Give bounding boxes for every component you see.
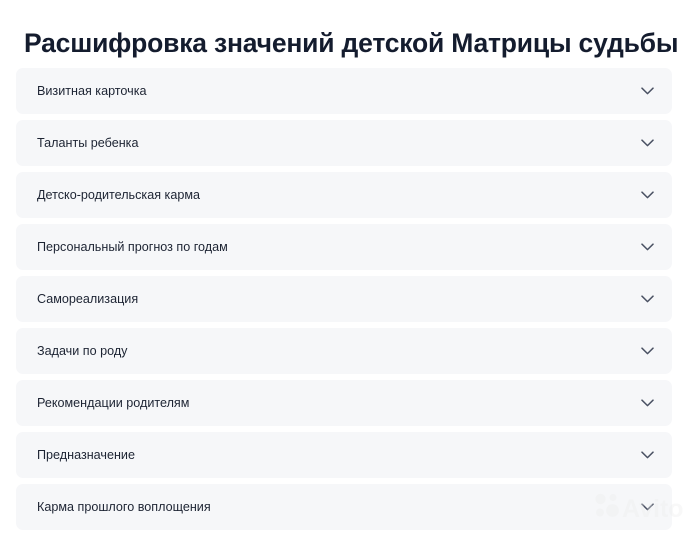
accordion-item[interactable]: Детско-родительская карма bbox=[16, 172, 672, 218]
chevron-down-icon[interactable] bbox=[638, 484, 656, 530]
chevron-down-icon[interactable] bbox=[638, 68, 656, 114]
chevron-down-icon[interactable] bbox=[638, 172, 656, 218]
page-root: Расшифровка значений детской Матрицы суд… bbox=[0, 0, 697, 540]
accordion-item-label: Персональный прогноз по годам bbox=[37, 224, 228, 270]
accordion-item-label: Задачи по роду bbox=[37, 328, 127, 374]
chevron-down-icon[interactable] bbox=[638, 224, 656, 270]
accordion-item[interactable]: Таланты ребенка bbox=[16, 120, 672, 166]
accordion-list: Визитная карточкаТаланты ребенкаДетско-р… bbox=[16, 68, 672, 536]
accordion-item[interactable]: Визитная карточка bbox=[16, 68, 672, 114]
page-title: Расшифровка значений детской Матрицы суд… bbox=[24, 26, 697, 60]
accordion-item[interactable]: Предназначение bbox=[16, 432, 672, 478]
accordion-item-label: Таланты ребенка bbox=[37, 120, 138, 166]
accordion-item[interactable]: Персональный прогноз по годам bbox=[16, 224, 672, 270]
accordion-item-label: Карма прошлого воплощения bbox=[37, 484, 211, 530]
accordion-item[interactable]: Самореализация bbox=[16, 276, 672, 322]
chevron-down-icon[interactable] bbox=[638, 276, 656, 322]
accordion-item[interactable]: Рекомендации родителям bbox=[16, 380, 672, 426]
chevron-down-icon[interactable] bbox=[638, 380, 656, 426]
accordion-item[interactable]: Карма прошлого воплощения bbox=[16, 484, 672, 530]
chevron-down-icon[interactable] bbox=[638, 432, 656, 478]
accordion-item[interactable]: Задачи по роду bbox=[16, 328, 672, 374]
accordion-item-label: Визитная карточка bbox=[37, 68, 147, 114]
accordion-item-label: Рекомендации родителям bbox=[37, 380, 189, 426]
accordion-item-label: Детско-родительская карма bbox=[37, 172, 200, 218]
chevron-down-icon[interactable] bbox=[638, 328, 656, 374]
chevron-down-icon[interactable] bbox=[638, 120, 656, 166]
accordion-item-label: Самореализация bbox=[37, 276, 138, 322]
accordion-item-label: Предназначение bbox=[37, 432, 135, 478]
